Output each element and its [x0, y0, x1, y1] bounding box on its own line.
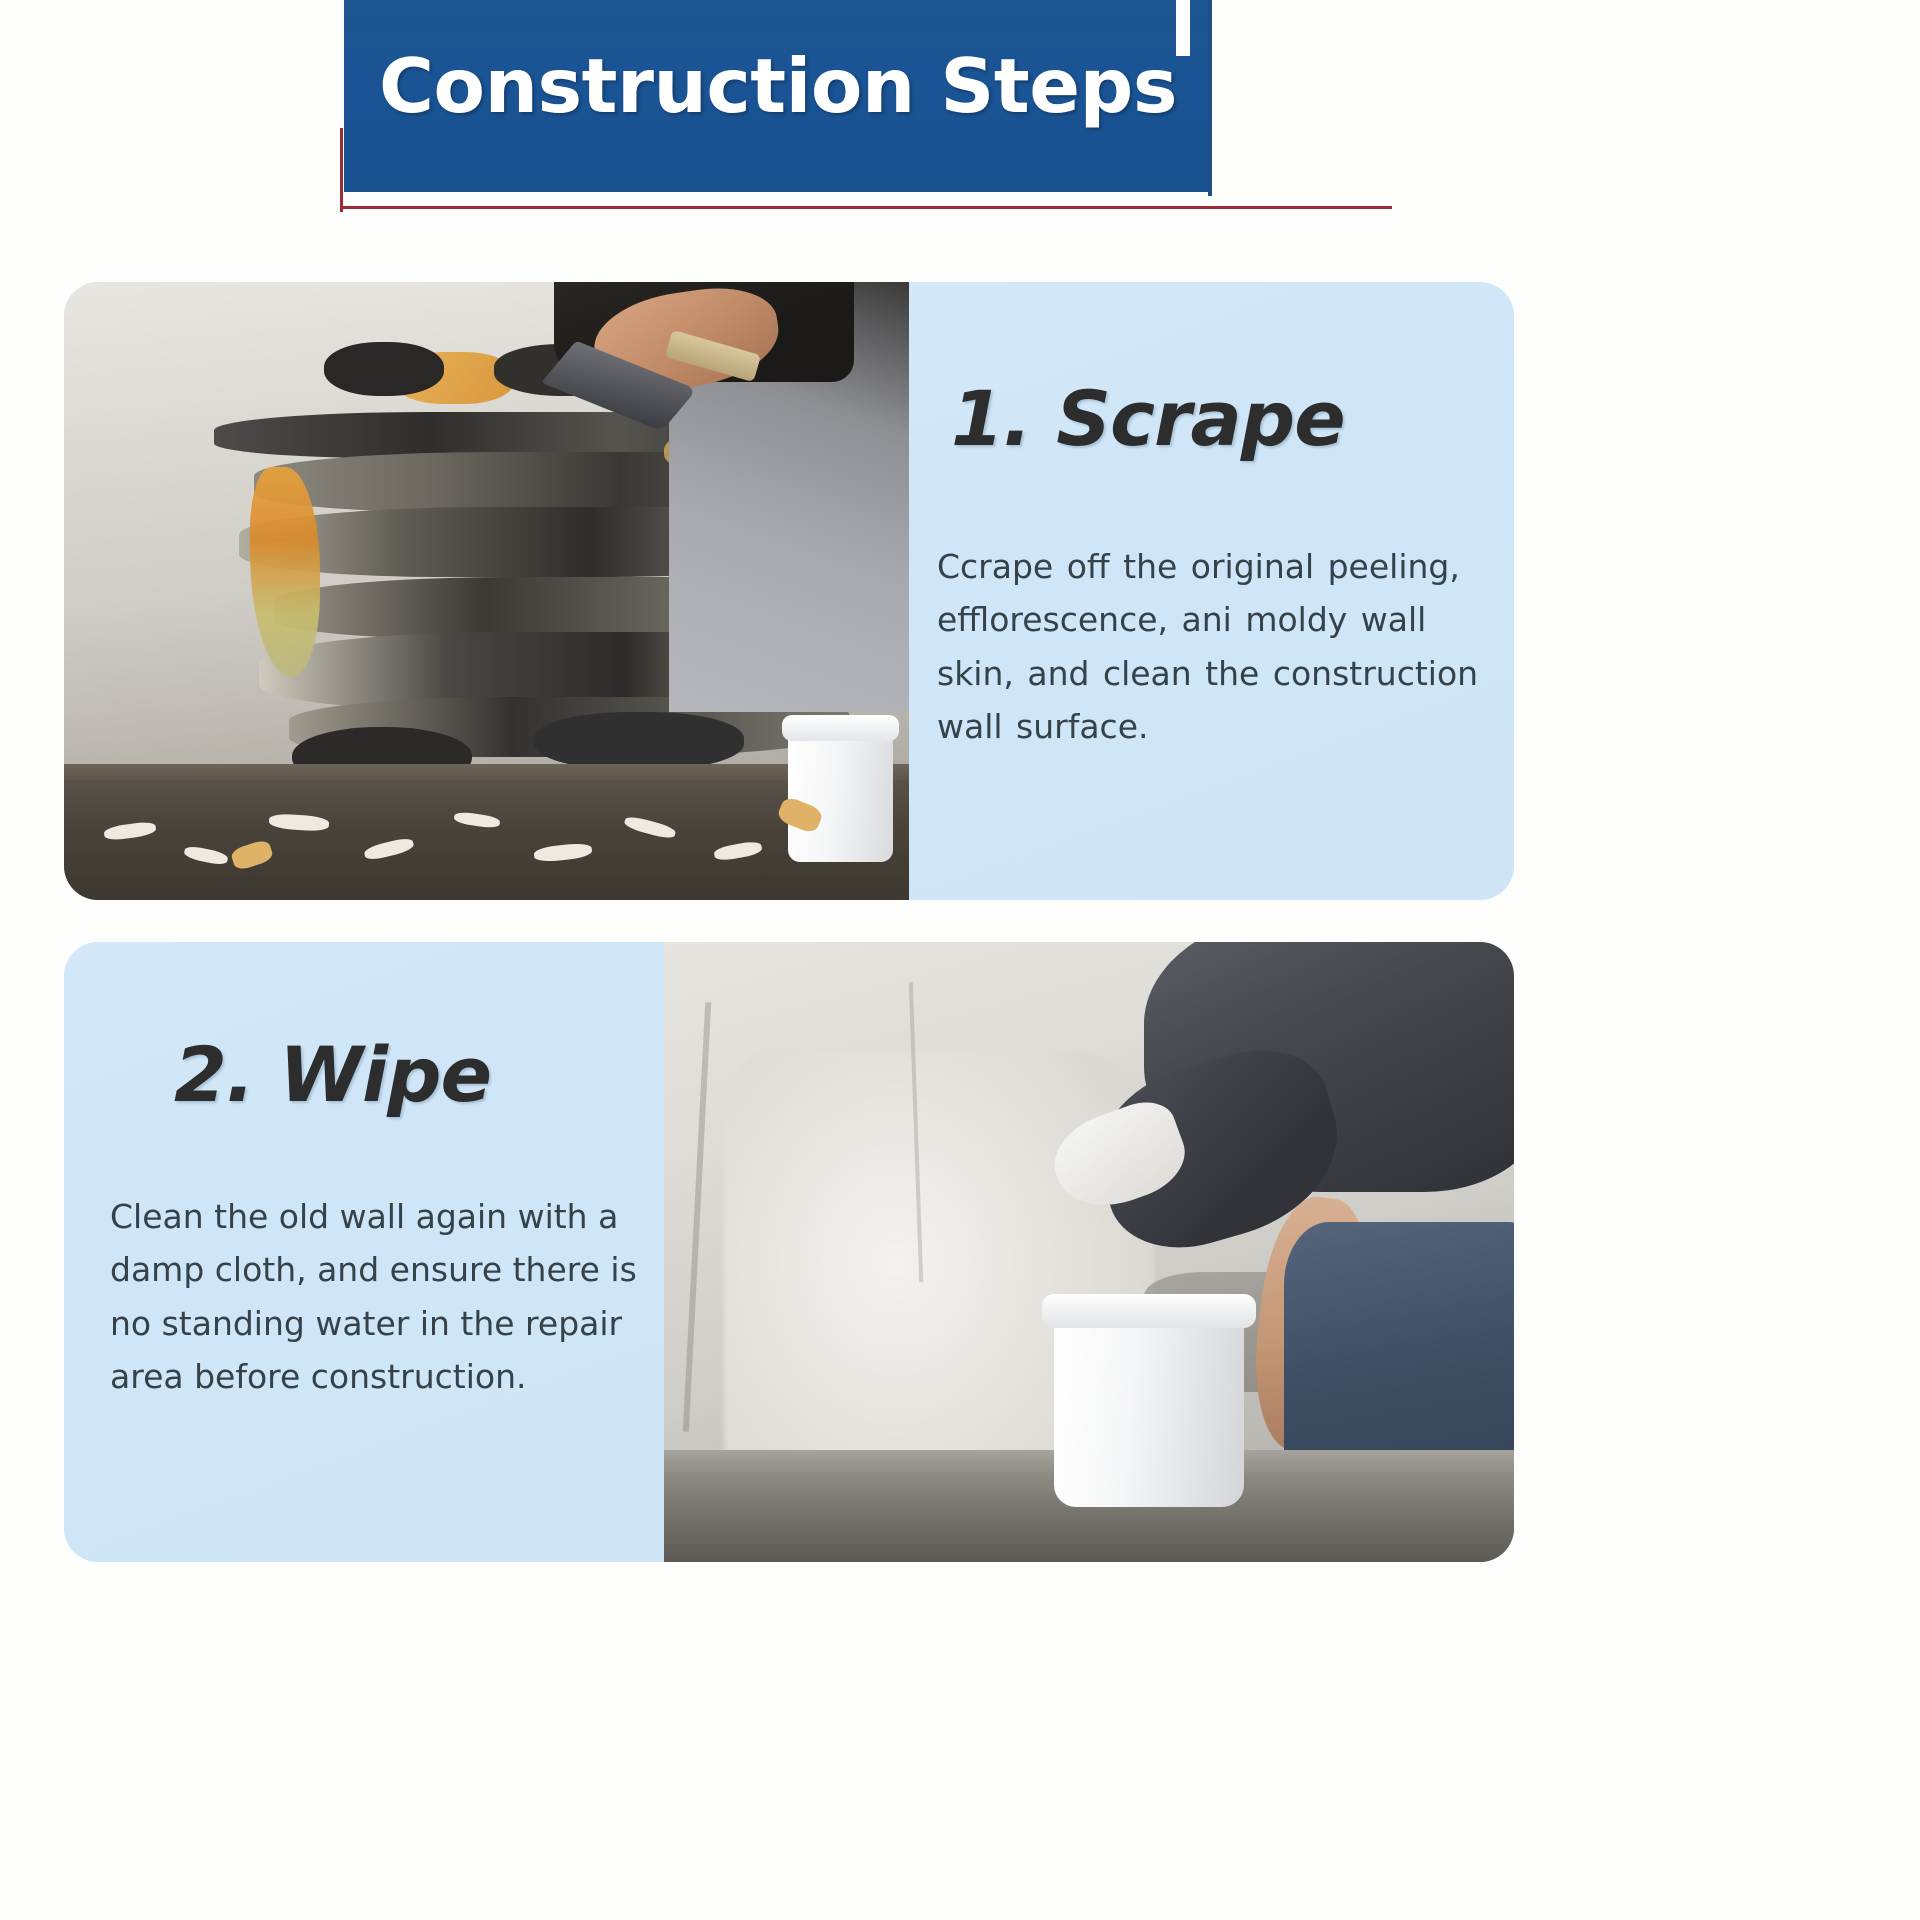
step-1-photo — [64, 282, 909, 900]
header-left-accent-rule — [340, 128, 343, 212]
header-notch — [1176, 0, 1190, 56]
header: Construction Steps — [0, 0, 1920, 250]
step-2-text-panel: 2. Wipe Clean the old wall again with a … — [64, 942, 664, 1562]
step-card-1: 1. Scrape Ccrape off the original peelin… — [64, 282, 1514, 900]
header-underline-rule — [340, 206, 1392, 209]
step-1-body: Ccrape off the original peeling, efflore… — [937, 540, 1497, 754]
step-1-heading: 1. Scrape — [951, 374, 1345, 463]
debris-ground — [64, 780, 909, 900]
page-title: Construction Steps — [344, 0, 1212, 192]
step-2-body: Clean the old wall again with a damp clo… — [110, 1190, 655, 1404]
paint-bucket — [788, 727, 893, 862]
step-2-heading: 2. Wipe — [174, 1030, 491, 1119]
scraped-patch — [324, 342, 444, 396]
step-2-photo — [664, 942, 1514, 1562]
water-bucket — [1054, 1312, 1244, 1507]
infographic-page: Construction Steps — [0, 0, 1920, 1920]
step-card-2: 2. Wipe Clean the old wall again with a … — [64, 942, 1514, 1562]
step-1-text-panel: 1. Scrape Ccrape off the original peelin… — [909, 282, 1514, 900]
scraped-patch — [534, 712, 744, 770]
header-right-accent-rule — [1208, 0, 1212, 196]
header-band: Construction Steps — [344, 0, 1212, 192]
